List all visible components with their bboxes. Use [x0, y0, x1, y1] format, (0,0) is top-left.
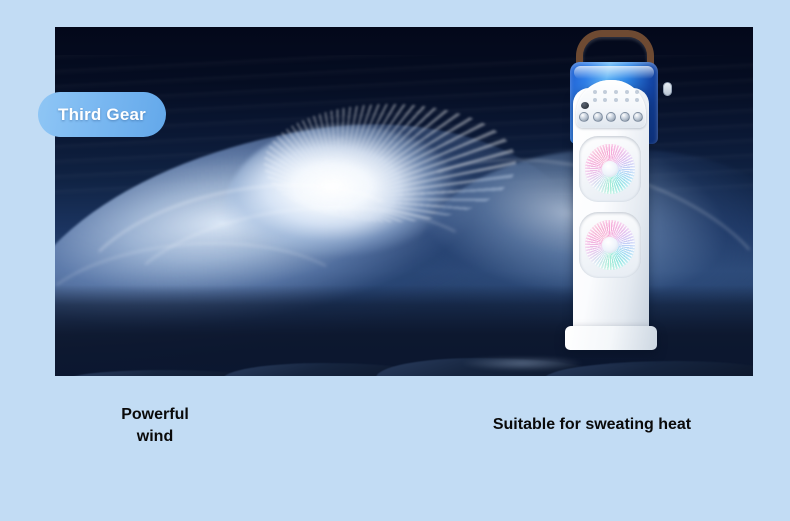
control-button — [593, 112, 603, 122]
indicator-dot — [635, 98, 639, 102]
fan-blades-rgb — [585, 144, 635, 194]
caption-line-2: wind — [95, 426, 215, 448]
indicator-dot — [635, 90, 639, 94]
fan-blades-rgb — [585, 220, 635, 270]
fan-hub — [602, 161, 618, 177]
caption-powerful-wind: Powerful wind — [95, 404, 215, 447]
indicator-dot — [625, 98, 629, 102]
control-button-row — [579, 112, 643, 122]
control-button — [606, 112, 616, 122]
tank-gloss-highlight — [574, 66, 654, 79]
indicator-dot — [593, 98, 597, 102]
product-air-cooler — [560, 30, 670, 360]
indicator-dot — [614, 98, 618, 102]
indicator-dot — [603, 90, 607, 94]
indicator-dot — [625, 90, 629, 94]
control-button — [620, 112, 630, 122]
device-base — [565, 326, 657, 350]
handle-anchor — [663, 82, 672, 96]
caption-sweating-heat: Suitable for sweating heat — [457, 414, 727, 436]
caption-line-1: Powerful — [95, 404, 215, 426]
third-gear-badge: Third Gear — [38, 92, 166, 137]
fan-unit-upper — [579, 136, 641, 202]
panel-indicator-lights — [590, 88, 642, 104]
indicator-dot — [603, 98, 607, 102]
indicator-dot — [593, 90, 597, 94]
control-button — [579, 112, 589, 122]
fan-unit-lower — [579, 212, 641, 278]
sensor-indicator-icon — [581, 102, 589, 109]
third-gear-badge-label: Third Gear — [58, 105, 146, 125]
fan-hub — [602, 237, 618, 253]
control-button — [633, 112, 643, 122]
indicator-dot — [614, 90, 618, 94]
